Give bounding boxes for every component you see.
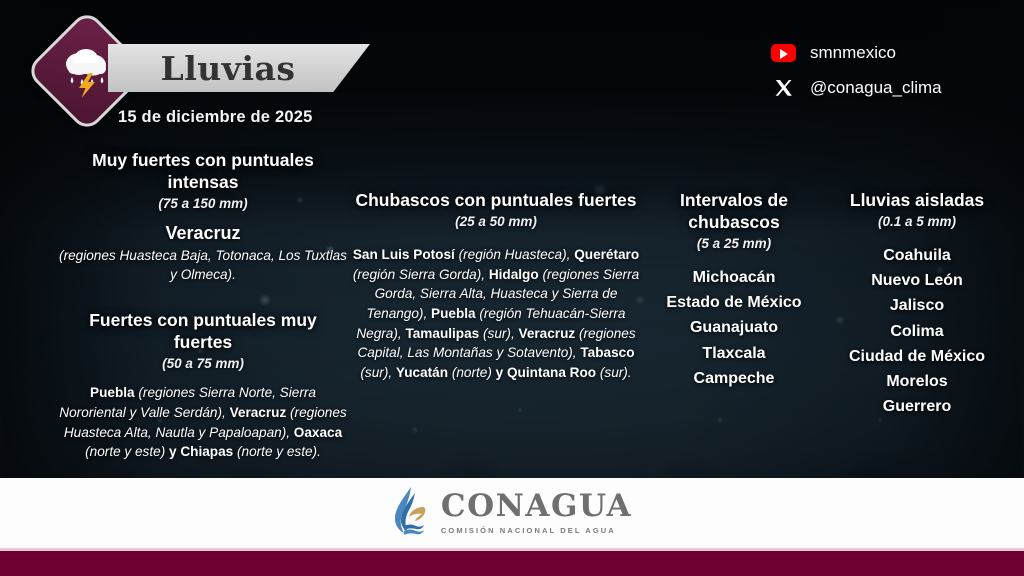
state-list-item: Nuevo León	[824, 268, 1010, 293]
column-muy-fuertes: Muy fuertes con puntuales intensas (75 a…	[58, 150, 348, 462]
category-heading: Chubascos con puntuales fuertes	[352, 190, 640, 212]
category-range: (25 a 50 mm)	[352, 214, 640, 229]
social-row-x[interactable]: @conagua_clima	[770, 73, 990, 103]
state-list-item: Morelos	[824, 369, 1010, 394]
category-heading: Muy fuertes con puntuales intensas	[58, 150, 348, 194]
category-heading: Lluvias aisladas	[824, 190, 1010, 212]
state-list-item: Ciudad de México	[824, 344, 1010, 369]
state-list-item: Coahuila	[824, 243, 1010, 268]
conagua-logo: CONAGUA COMISIÓN NACIONAL DEL AGUA	[392, 485, 632, 542]
category-range: (5 a 25 mm)	[648, 236, 820, 251]
state-list-item: Colima	[824, 319, 1010, 344]
state-regions: (regiones Huasteca Baja, Totonaca, Los T…	[58, 246, 348, 285]
x-twitter-icon	[770, 78, 797, 98]
category-heading: Intervalos de chubascos	[648, 190, 820, 234]
states-paragraph: San Luis Potosí (región Huasteca), Queré…	[352, 245, 640, 383]
block-chubascos-puntuales: Chubascos con puntuales fuertes (25 a 50…	[352, 190, 640, 383]
state-list-item: Campeche	[648, 366, 820, 391]
block-intervalos: Intervalos de chubascos (5 a 25 mm) Mich…	[648, 190, 820, 391]
state-list-item: Guerrero	[824, 394, 1010, 419]
states-paragraph: Puebla (regiones Sierra Norte, Sierra No…	[58, 383, 348, 462]
state-name: Veracruz	[58, 223, 348, 244]
category-range: (0.1 a 5 mm)	[824, 214, 1010, 229]
state-list-item: Tlaxcala	[648, 341, 820, 366]
x-handle: @conagua_clima	[810, 78, 942, 98]
category-heading: Fuertes con puntuales muy fuertes	[58, 310, 348, 354]
youtube-handle: smnmexico	[810, 43, 896, 63]
youtube-icon	[770, 44, 797, 62]
state-list-item: Guanajuato	[648, 315, 820, 340]
block-muy-fuertes: Muy fuertes con puntuales intensas (75 a…	[58, 150, 348, 284]
column-lluvias-aisladas: Lluvias aisladas (0.1 a 5 mm) CoahuilaNu…	[824, 150, 1010, 420]
weather-forecast-poster: Lluvias 15 de diciembre de 2025 smnmexic…	[0, 0, 1024, 576]
column-chubascos-puntuales: Chubascos con puntuales fuertes (25 a 50…	[352, 150, 640, 383]
footer-logo-band: CONAGUA COMISIÓN NACIONAL DEL AGUA	[0, 478, 1024, 548]
social-handles: smnmexico @conagua_clima	[770, 38, 990, 103]
page-title: Lluvias	[108, 44, 348, 92]
column-intervalos-chubascos: Intervalos de chubascos (5 a 25 mm) Mich…	[648, 150, 820, 391]
state-list-item: Estado de México	[648, 290, 820, 315]
state-list: MichoacánEstado de MéxicoGuanajuatoTlaxc…	[648, 265, 820, 391]
forecast-columns: Muy fuertes con puntuales intensas (75 a…	[0, 150, 1024, 470]
forecast-date: 15 de diciembre de 2025	[118, 108, 312, 127]
footer-maroon-band	[0, 551, 1024, 576]
category-range: (75 a 150 mm)	[58, 196, 348, 211]
category-range: (50 a 75 mm)	[58, 356, 348, 371]
conagua-wordmark: CONAGUA	[441, 491, 632, 522]
block-fuertes: Fuertes con puntuales muy fuertes (50 a …	[58, 310, 348, 462]
social-row-youtube[interactable]: smnmexico	[770, 38, 990, 68]
conagua-subtitle: COMISIÓN NACIONAL DEL AGUA	[441, 526, 632, 535]
state-list-item: Michoacán	[648, 265, 820, 290]
state-list: CoahuilaNuevo LeónJaliscoColimaCiudad de…	[824, 243, 1010, 420]
state-list-item: Jalisco	[824, 293, 1010, 318]
conagua-logo-text: CONAGUA COMISIÓN NACIONAL DEL AGUA	[441, 491, 632, 535]
conagua-water-drop-eagle-logo-icon	[392, 485, 430, 542]
block-aisladas: Lluvias aisladas (0.1 a 5 mm) CoahuilaNu…	[824, 190, 1010, 420]
